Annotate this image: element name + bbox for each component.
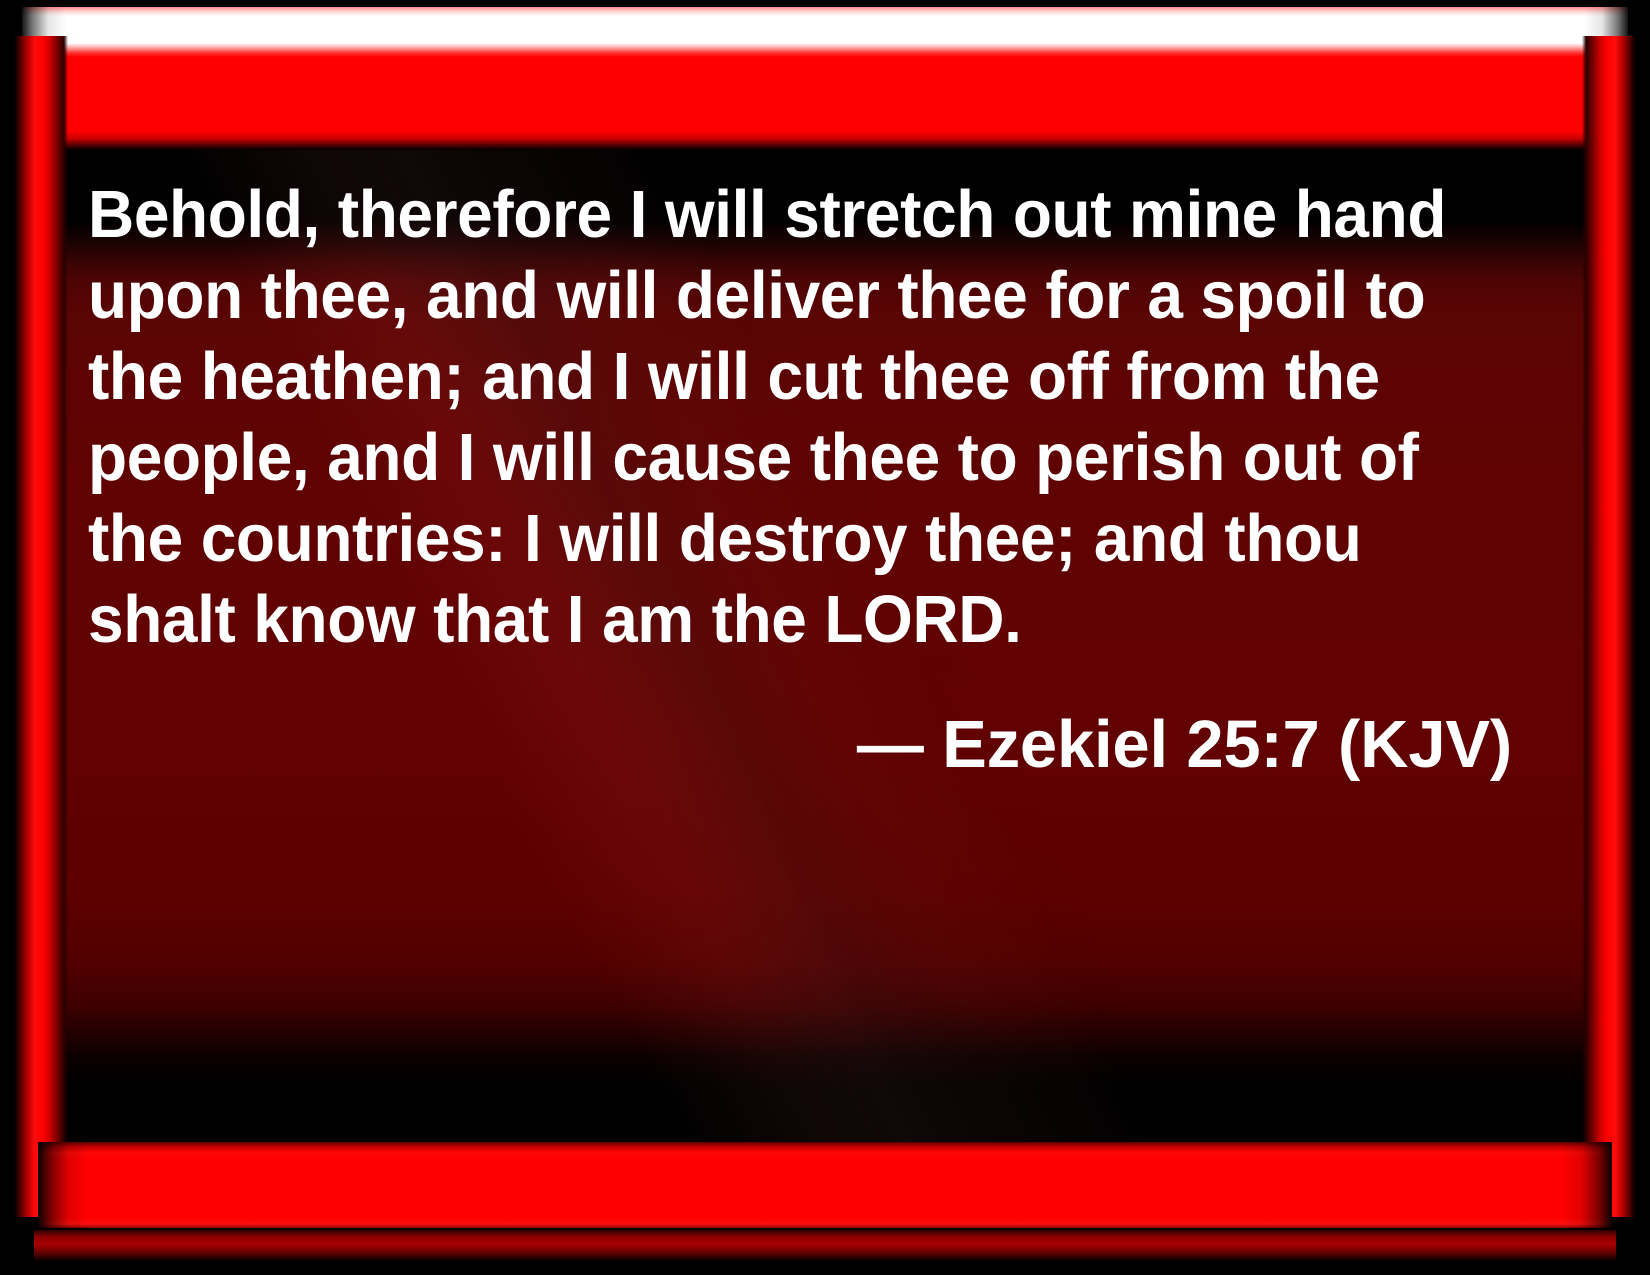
frame-left-rail [14,36,68,1217]
frame-bottom-left-corner [38,1142,110,1228]
verse-attribution: — Ezekiel 25:7 (KJV) [88,660,1524,785]
verse-panel: Behold, therefore I will stretch out min… [56,132,1594,1145]
verse-graphic: Behold, therefore I will stretch out min… [0,0,1650,1275]
verse-body: Behold, therefore I will stretch out min… [88,174,1459,660]
frame-bottom-right-corner [1540,1142,1612,1228]
frame-bottom-shadow [34,1230,1616,1262]
frame-right-rail [1582,36,1636,1217]
verse-text-block: Behold, therefore I will stretch out min… [88,174,1524,785]
frame-bottom-bar [38,1142,1612,1228]
frame-top-bar [22,7,1628,150]
